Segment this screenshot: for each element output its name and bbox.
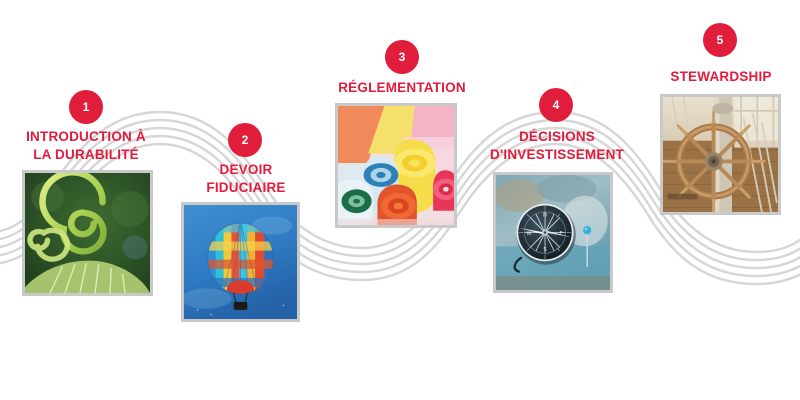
step-1-number-badge: 1	[69, 90, 103, 124]
svg-text:W: W	[526, 231, 532, 237]
hot-air-balloon-photo	[181, 202, 300, 322]
step-2-caption: DEVOIR FIDUCIAIRE	[167, 161, 325, 197]
compass-photo: N E S W	[493, 172, 613, 293]
step-2-number-badge: 2	[228, 123, 262, 157]
step-5-caption: STEWARDSHIP	[643, 68, 799, 86]
step-1-caption: INTRODUCTION À LA DURABILITÉ	[6, 128, 166, 164]
step-3-number-badge: 3	[385, 40, 419, 74]
infographic-canvas: 1 INTRODUCTION À LA DURABILITÉ	[0, 0, 800, 400]
compass-illustration: N E S W	[496, 175, 610, 290]
fern-fiddlehead-illustration	[25, 173, 150, 293]
step-3-caption: RÉGLEMENTATION	[322, 79, 482, 97]
step-5-number-badge: 5	[703, 23, 737, 57]
ships-wheel-illustration	[663, 97, 778, 212]
fern-fiddlehead-photo	[22, 170, 153, 296]
paper-rolls-photo	[335, 103, 457, 228]
ships-wheel-photo	[660, 94, 781, 215]
hot-air-balloon-illustration	[184, 205, 297, 319]
step-4-number-badge: 4	[539, 88, 573, 122]
paper-rolls-illustration	[338, 106, 454, 225]
svg-text:E: E	[559, 231, 562, 237]
step-4-caption: DÉCISIONS D'INVESTISSEMENT	[474, 128, 640, 164]
